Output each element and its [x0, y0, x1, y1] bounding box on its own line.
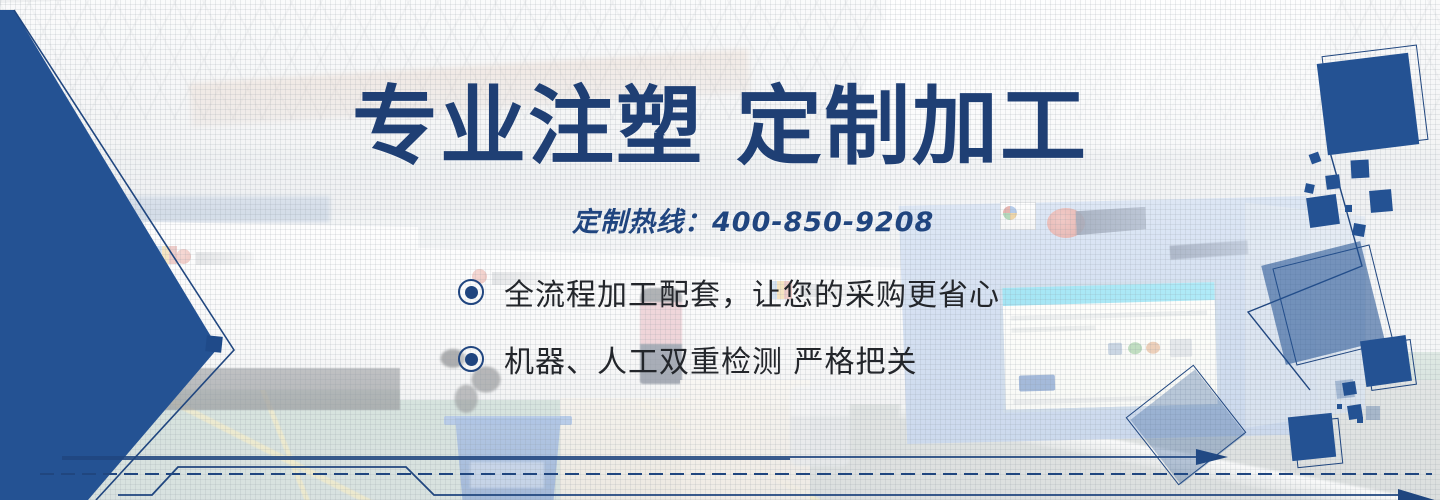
feature-bullet-1: 全流程加工配套，让您的采购更省心 — [458, 270, 1000, 314]
target-circle-icon — [458, 346, 484, 372]
feature-bullet-2: 机器、人工双重检测 严格把关 — [458, 337, 918, 381]
hotline-text: 定制热线：400-850-9208 — [572, 200, 934, 239]
page-title: 专业注塑 定制加工 — [352, 84, 1112, 170]
target-circle-icon — [458, 279, 484, 305]
promo-banner: 专业注塑 定制加工 定制热线：400-850-9208 全流程加工配套，让您的采… — [0, 0, 1440, 500]
feature-bullet-1-label: 全流程加工配套，让您的采购更省心 — [504, 270, 1000, 314]
feature-bullet-2-label: 机器、人工双重检测 严格把关 — [504, 337, 918, 381]
banner-content: 专业注塑 定制加工 定制热线：400-850-9208 全流程加工配套，让您的采… — [0, 0, 1440, 500]
